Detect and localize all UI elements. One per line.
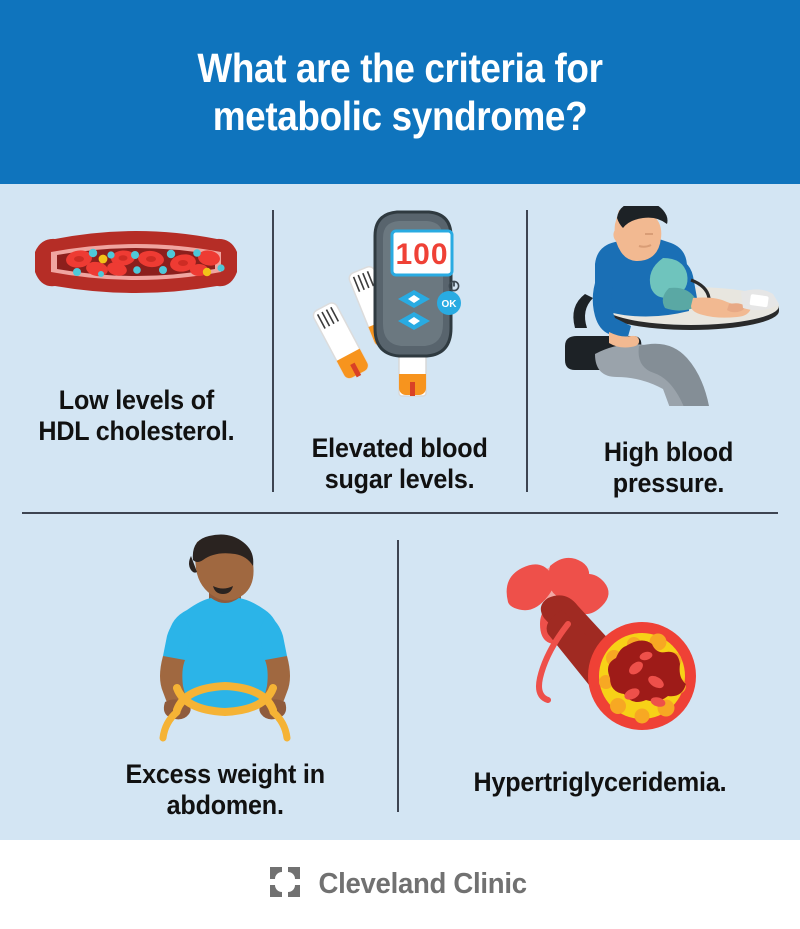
criteria-panel: Low levels of HDL cholesterol. [0,184,800,840]
criteria-item-blood-pressure: High blood pressure. [540,206,796,499]
criteria-caption: Excess weight in abdomen. [125,759,324,821]
criteria-caption: Hypertriglyceridemia. [474,767,727,798]
glucose-meter-icon: 100 OK [282,204,518,415]
waist-measuring-tape-icon [125,534,325,749]
clogged-artery-icon [490,536,710,741]
criteria-item-blood-sugar: 100 OK Elevated blood sugar levels. [280,204,520,495]
svg-text:OK: OK [442,299,458,310]
divider-horizontal [22,512,778,514]
blood-pressure-patient-icon [543,206,793,411]
blood-vessel-icon [31,224,241,307]
infographic-root: What are the criteria for metabolic synd… [0,0,800,929]
cleveland-clinic-mark-icon [268,865,302,904]
criteria-caption: Elevated blood sugar levels. [312,433,488,495]
divider-vertical-3 [397,540,399,812]
criteria-item-hdl-cholesterol: Low levels of HDL cholesterol. [8,224,264,447]
meter-reading-text: 100 [395,238,448,271]
criteria-caption: High blood pressure. [603,437,732,499]
header-banner: What are the criteria for metabolic synd… [0,0,800,184]
cleveland-clinic-wordmark: Cleveland Clinic [318,868,526,901]
criteria-caption: Low levels of HDL cholesterol. [38,385,234,447]
criteria-item-abdominal-weight: Excess weight in abdomen. [60,534,390,821]
divider-vertical-1 [272,210,274,492]
page-title: What are the criteria for metabolic synd… [103,44,697,141]
footer-bar: Cleveland Clinic [0,840,800,929]
criteria-item-hypertriglyceridemia: Hypertriglyceridemia. [410,536,790,798]
divider-vertical-2 [526,210,528,492]
cleveland-clinic-logo: Cleveland Clinic [268,865,532,904]
